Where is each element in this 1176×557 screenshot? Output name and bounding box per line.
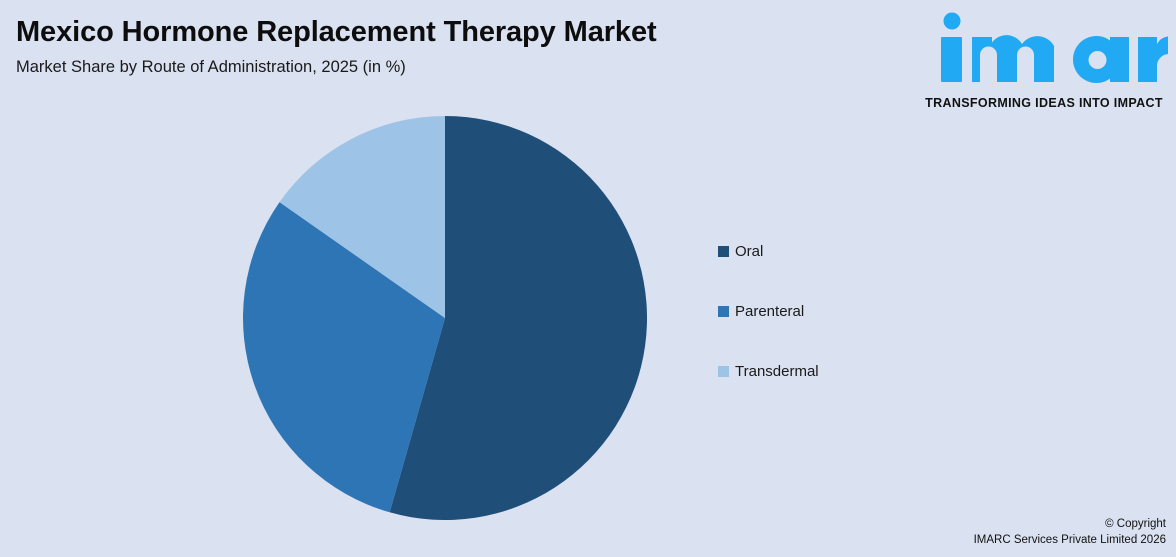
legend-swatch-parenteral <box>718 306 729 317</box>
copyright-notice: © Copyright IMARC Services Private Limit… <box>974 516 1166 549</box>
chart-subtitle: Market Share by Route of Administration,… <box>16 58 406 77</box>
legend-label-parenteral: Parenteral <box>735 304 804 319</box>
copyright-line-1: © Copyright <box>974 516 1166 533</box>
copyright-line-2: IMARC Services Private Limited 2026 <box>974 532 1166 549</box>
logo-tagline: TRANSFORMING IDEAS INTO IMPACT <box>920 96 1168 110</box>
legend-item-oral[interactable]: Oral <box>718 240 938 262</box>
imarc-wordmark-icon <box>920 8 1168 86</box>
pie-chart-svg <box>243 116 647 520</box>
page-title: Mexico Hormone Replacement Therapy Marke… <box>16 16 657 49</box>
legend-item-parenteral[interactable]: Parenteral <box>718 300 938 322</box>
legend-label-transdermal: Transdermal <box>735 364 819 379</box>
legend-swatch-oral <box>718 246 729 257</box>
legend-item-transdermal[interactable]: Transdermal <box>718 360 938 382</box>
imarc-logo: TRANSFORMING IDEAS INTO IMPACT <box>920 8 1168 108</box>
chart-page: Mexico Hormone Replacement Therapy Marke… <box>0 0 1176 557</box>
pie-chart <box>243 116 647 520</box>
legend-swatch-transdermal <box>718 366 729 377</box>
legend-label-oral: Oral <box>735 244 763 259</box>
chart-legend: Oral Parenteral Transdermal <box>718 240 938 382</box>
